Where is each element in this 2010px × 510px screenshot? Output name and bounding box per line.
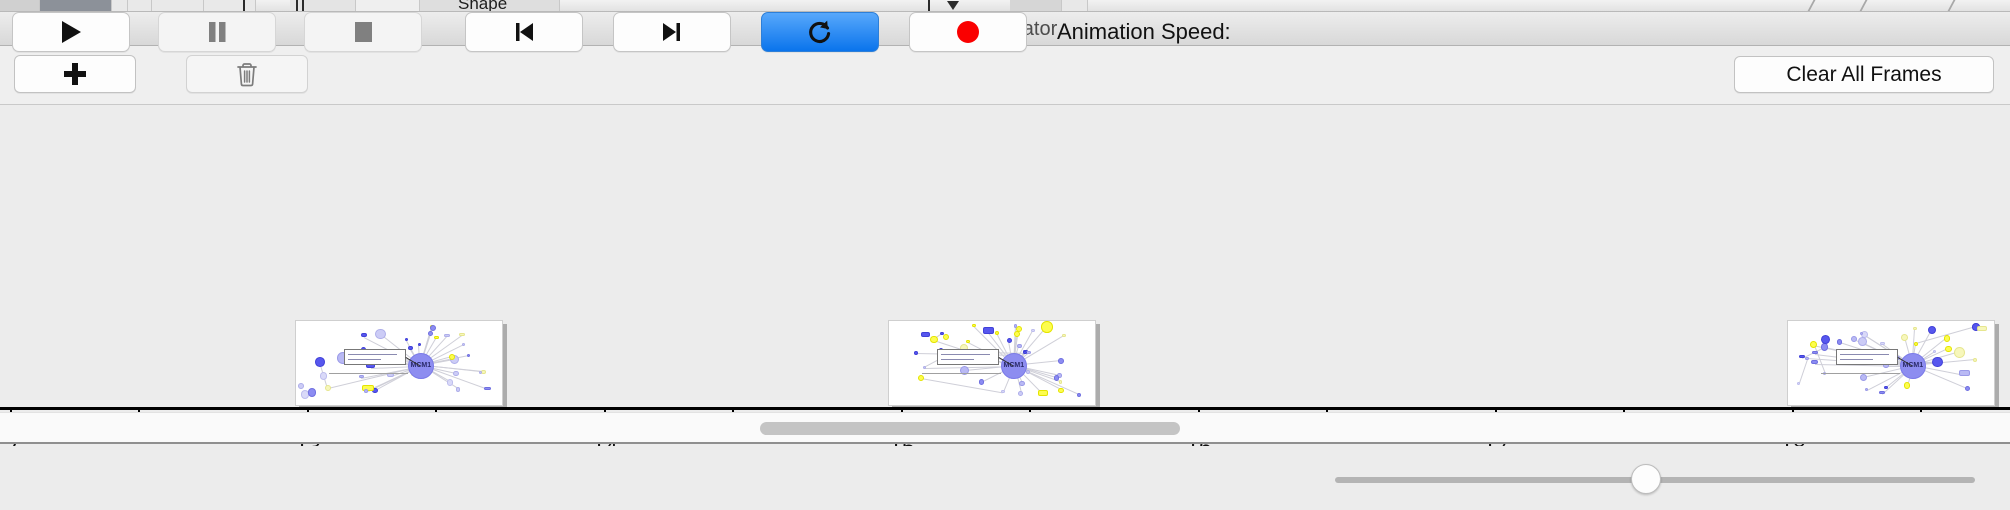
network-node [298,383,304,389]
trash-icon [236,61,258,87]
network-node [479,371,482,374]
network-node [1954,347,1965,358]
network-node [1913,327,1917,330]
network-node [1811,360,1818,364]
network-node [1014,331,1020,337]
animation-speed-slider-thumb[interactable] [1631,464,1661,494]
timeline-frame-thumbnail[interactable]: MCM1 [295,320,503,406]
background-window-strip: Shape [0,0,2010,12]
network-node [1837,339,1843,345]
network-node [1821,343,1829,351]
animation-speed-label: Animation Speed: [1057,12,1231,52]
network-node [418,343,421,346]
network-node [1059,380,1062,383]
network-node [444,334,450,337]
add-frame-button[interactable] [14,55,136,93]
loop-button[interactable] [761,12,879,52]
network-node [1019,381,1024,386]
network-node [1865,388,1869,392]
cyanimator-window: Shape CyAnimator Clear All Frames MCM1MC… [0,0,2010,510]
network-node [1058,388,1063,393]
network-node [1928,326,1936,334]
network-node [320,372,327,379]
network-node [1851,336,1857,342]
record-icon [955,19,981,45]
network-node [1805,357,1808,360]
network-node [1944,335,1950,341]
network-node [1879,391,1885,394]
network-node [979,379,984,384]
skip-forward-icon [659,18,685,46]
pause-icon [204,18,230,46]
network-node [1860,374,1867,381]
network-node [1973,358,1977,362]
network-node [1017,344,1021,348]
network-node [1858,337,1867,346]
stop-icon [350,18,376,46]
network-node [308,388,317,397]
timeline-scrollbar[interactable] [0,412,2010,444]
network-hub-node: MCM1 [408,353,434,379]
network-node [1014,324,1017,327]
network-node [918,375,924,381]
network-node [940,332,944,335]
network-annotation-callout [1836,349,1898,364]
prev-frame-button[interactable] [465,12,583,52]
network-node [1959,370,1970,376]
network-node [1965,386,1970,391]
stop-button[interactable] [304,12,422,52]
network-node [361,333,368,337]
network-node [1860,332,1863,335]
network-hub-node: MCM1 [1001,353,1027,379]
network-node [930,336,938,344]
network-annotation-callout [937,349,999,364]
network-node [405,338,408,341]
network-node [1797,382,1800,385]
network-node [1904,382,1910,388]
network-hub-node: MCM1 [1900,353,1926,379]
network-node [1031,329,1035,332]
scrollbar-thumb[interactable] [760,422,1180,435]
network-thumbnail: MCM1 [1788,321,1994,405]
loop-icon [805,17,835,47]
network-node [1945,346,1952,353]
network-node [467,354,471,357]
network-node [914,351,918,355]
network-node [1901,334,1908,341]
network-node [1041,321,1053,333]
network-node [1007,338,1012,343]
network-node [960,366,969,375]
network-node [1914,342,1918,346]
network-node [1821,335,1830,344]
network-node [1054,375,1060,381]
network-node [456,387,461,392]
clear-all-frames-button[interactable]: Clear All Frames [1734,56,1994,93]
network-node [375,329,386,340]
plus-icon [64,63,86,85]
network-node [1077,393,1081,397]
network-edge [328,366,421,389]
network-caption-line [922,373,1001,374]
play-icon [58,18,84,46]
network-node [315,357,325,367]
pause-button[interactable] [158,12,276,52]
network-edge [1799,358,1808,383]
network-node [1001,390,1005,393]
network-thumbnail: MCM1 [296,321,502,405]
timeline-panel[interactable]: MCM1MCM1MCM1 2131415161718 Seconds [0,106,2010,410]
skip-backward-icon [511,18,537,46]
next-frame-button[interactable] [613,12,731,52]
delete-frame-button[interactable] [186,55,308,93]
network-node [921,332,930,337]
network-node [1810,341,1817,348]
network-node [481,370,485,374]
network-node [983,327,994,333]
play-button[interactable] [12,12,130,52]
background-shape-label: Shape [458,0,507,12]
network-node [484,387,491,391]
network-node [1932,357,1943,368]
timeline-frame-thumbnail[interactable]: MCM1 [1787,320,1995,406]
network-caption-line [329,373,408,374]
network-node [995,331,1000,336]
network-node [1977,326,1987,331]
timeline-axis-line [0,407,2010,410]
network-node [1799,355,1805,358]
network-node [359,375,364,378]
network-node [1880,342,1885,345]
network-node [428,331,433,336]
timeline-frame-thumbnail[interactable]: MCM1 [888,320,1096,406]
network-node [453,371,459,377]
network-node [459,333,465,336]
network-edge [921,378,1003,393]
network-node [1038,390,1048,395]
network-node [1062,334,1066,337]
network-node [943,334,949,340]
network-node [462,343,465,346]
network-caption-line [1821,373,1900,374]
record-button[interactable] [909,12,1027,52]
network-annotation-callout [344,349,406,364]
network-thumbnail: MCM1 [889,321,1095,405]
network-node [447,379,453,385]
network-node [1018,391,1023,396]
network-node [430,325,436,331]
network-node [434,336,439,339]
network-node [325,385,331,391]
network-node [1058,358,1064,364]
